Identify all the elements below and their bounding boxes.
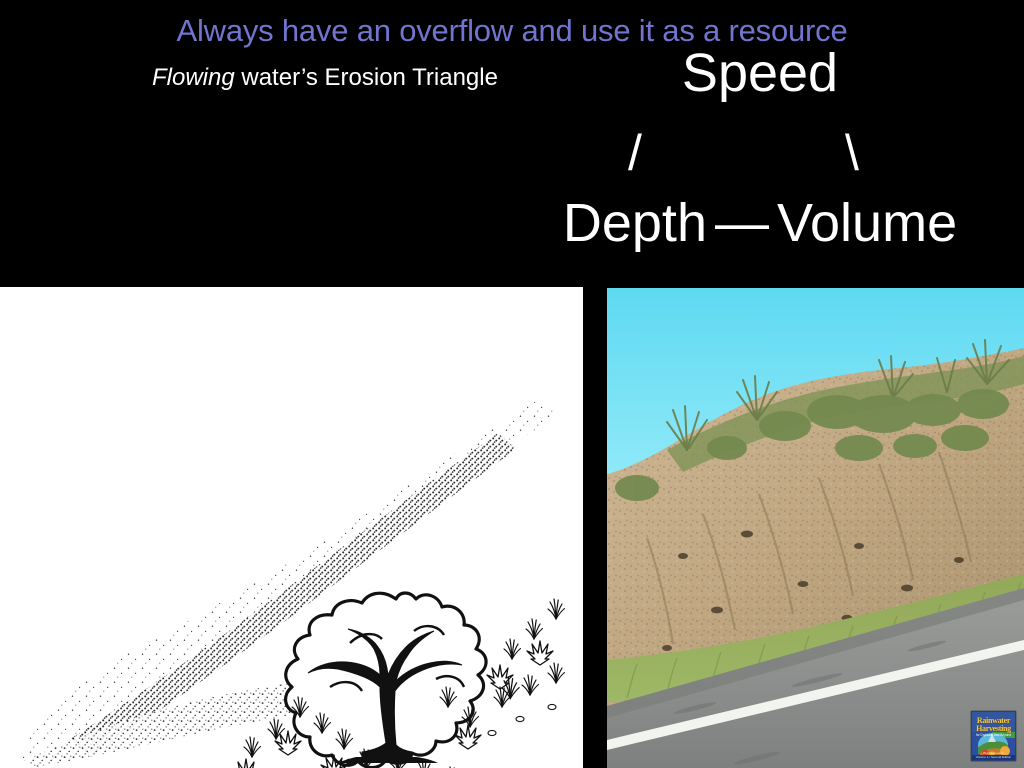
badge-footer-bar: Volume 1 • Second Edition [972,755,1015,760]
triangle-base-row: Depth—Volume [500,192,1020,254]
badge-title-line2: Harvesting [972,724,1015,733]
keyline-illustration-drawing [0,287,583,768]
triangle-base-connector: — [707,193,777,253]
triangle-connector-right: \ [845,124,859,182]
slide-canvas: Always have an overflow and use it as a … [0,0,1024,768]
roadcut-photo-panel [607,288,1024,768]
keyline-illustration-panel: Break line Keyline [0,287,583,768]
badge-subtitle: for Drylands and Beyond [972,733,1015,737]
roadcut-photograph [607,288,1024,768]
erosion-triangle-diagram: Speed / \ Depth—Volume [500,42,1020,272]
rainwater-harvesting-book-badge[interactable]: Rainwater Harvesting for Drylands and Be… [971,711,1016,761]
triangle-connector-left: / [628,124,642,182]
triangle-base-depth: Depth [563,193,707,253]
subtitle-rest: water’s Erosion Triangle [235,64,498,91]
erosion-triangle-subtitle: Flowing water’s Erosion Triangle [152,63,498,93]
triangle-base-volume: Volume [777,193,957,253]
subtitle-italic-word: Flowing [152,64,235,91]
triangle-apex-speed: Speed [500,42,1020,104]
badge-footer-text: Volume 1 • Second Edition [972,755,1015,760]
